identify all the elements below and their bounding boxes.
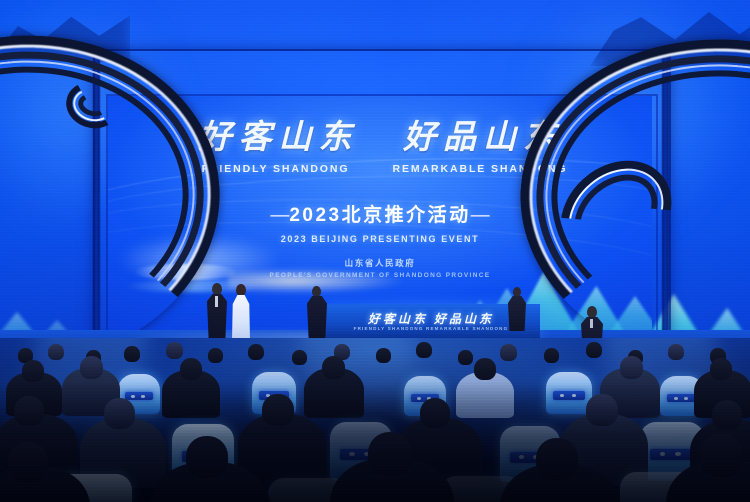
- person-male-host: [206, 283, 228, 339]
- screen-subtitle: —2023北京推介活动— 2023 BEIJING PRESENTING EVE…: [108, 200, 652, 244]
- audience-head: [620, 356, 643, 379]
- headline-left: 好客山东 FRIENDLY SHANDONG: [193, 122, 359, 175]
- audience-head: [500, 344, 517, 361]
- organizer-en: PEOPLE'S GOVERNMENT OF SHANDONG PROVINCE: [108, 272, 652, 279]
- audience-head: [668, 344, 684, 360]
- audience-head: [416, 342, 432, 358]
- subtitle-dash-right: —: [471, 205, 490, 226]
- led-screen: 好客山东 FRIENDLY SHANDONG 好品山东 REMARKABLE S…: [108, 96, 652, 332]
- head: [312, 286, 321, 297]
- head: [513, 287, 521, 297]
- subtitle-cn: 2023北京推介活动: [289, 205, 470, 226]
- body: [232, 295, 250, 340]
- shirt: [590, 319, 593, 328]
- audience-head: [22, 360, 44, 382]
- head: [212, 283, 222, 295]
- headline-right-en: REMARKABLE SHANDONG: [393, 163, 568, 175]
- person-standing-center-right: [508, 287, 526, 331]
- headline-right-cn: 好品山东: [393, 122, 568, 155]
- organizer-cn: 山东省人民政府: [108, 257, 652, 269]
- audience-head: [322, 356, 345, 379]
- audience-head: [544, 348, 559, 363]
- subtitle-cn-row: —2023北京推介活动—: [108, 200, 652, 227]
- audience-head: [292, 350, 307, 365]
- person-speaker-at-podium: [307, 286, 327, 338]
- audience-head: [458, 350, 473, 365]
- body: [508, 296, 526, 331]
- audience-head: [166, 342, 183, 359]
- head: [236, 284, 246, 296]
- audience-head: [376, 348, 391, 363]
- audience-head: [180, 358, 202, 380]
- audience-head: [80, 356, 103, 379]
- headline-left-en: FRIENDLY SHANDONG: [193, 163, 359, 175]
- body: [307, 296, 327, 338]
- audience-head: [710, 358, 732, 380]
- audience-area: [0, 338, 750, 502]
- audience-head: [208, 348, 223, 363]
- screen-organizer: 山东省人民政府 PEOPLE'S GOVERNMENT OF SHANDONG …: [108, 257, 652, 279]
- screen-post-right: [662, 49, 669, 337]
- foreground-shadow: [0, 382, 750, 502]
- screen-post-left: [93, 49, 100, 337]
- subtitle-dash-left: —: [270, 205, 289, 226]
- head: [587, 306, 597, 318]
- audience-head: [124, 346, 140, 362]
- audience-head: [48, 344, 64, 360]
- audience-head: [474, 358, 496, 380]
- audience-head: [586, 342, 602, 358]
- screen-headline: 好客山东 FRIENDLY SHANDONG 好品山东 REMARKABLE S…: [108, 122, 652, 175]
- headline-right: 好品山东 REMARKABLE SHANDONG: [393, 122, 568, 175]
- shirt: [215, 296, 218, 307]
- headline-left-cn: 好客山东: [193, 122, 359, 155]
- audience-head: [248, 344, 264, 360]
- subtitle-en: 2023 BEIJING PRESENTING EVENT: [108, 234, 652, 244]
- event-photo: 好客山东 FRIENDLY SHANDONG 好品山东 REMARKABLE S…: [0, 0, 750, 502]
- person-female-host: [230, 284, 252, 340]
